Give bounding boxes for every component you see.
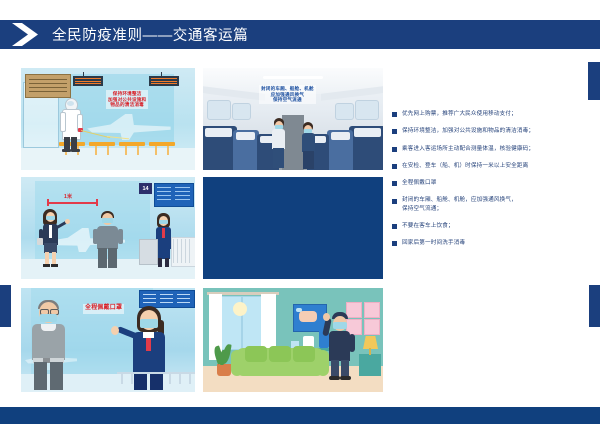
guideline-text: 乘客进入客运场所主动配合测量体温，核验健康码； bbox=[402, 145, 534, 153]
footer-bar bbox=[0, 407, 600, 424]
bullet-square-icon bbox=[392, 181, 397, 186]
distance-label: 1米 bbox=[62, 193, 74, 201]
header-bar: 全民防疫准则——交通客运篇 bbox=[0, 20, 600, 49]
bullet-square-icon bbox=[392, 241, 397, 246]
list-item: 封闭的车厢、船舱、机舱，应加强通风换气， 保持空气流通； bbox=[392, 196, 592, 212]
train-interior-illustration: 封闭的车厢、船舱、机舱 应加强通风换气 保持空气流通 bbox=[203, 68, 383, 170]
bullet-square-icon bbox=[392, 164, 397, 169]
accent-bar-right-bottom bbox=[589, 285, 600, 327]
panel-caption: 全程佩戴口罩 bbox=[83, 304, 124, 314]
bullet-square-icon bbox=[392, 199, 397, 204]
wear-mask-illustration: 全程佩戴口罩 bbox=[21, 288, 195, 392]
list-item: 在安检、登车（船、机）时保持一米以上安全距离 bbox=[392, 162, 592, 170]
list-item: 乘客进入客运场所主动配合测量体温，核验健康码； bbox=[392, 145, 592, 153]
home-handwashing-illustration bbox=[203, 288, 383, 392]
panel-caption: 保持环境整洁 加强对公共设施和 物品的清洁消毒 bbox=[106, 90, 148, 109]
accent-bar-right-top bbox=[588, 62, 600, 100]
list-item: 回家后第一时间洗手消毒 bbox=[392, 239, 592, 247]
bullet-square-icon bbox=[392, 224, 397, 229]
bullet-square-icon bbox=[392, 147, 397, 152]
one-meter-distance-illustration: 14 1米 bbox=[21, 177, 195, 279]
bullet-square-icon bbox=[392, 112, 397, 117]
guideline-text: 回家后第一时间洗手消毒 bbox=[402, 239, 465, 247]
list-item: 不要在客车上饮食； bbox=[392, 222, 592, 230]
list-item: 全程佩戴口罩 bbox=[392, 179, 592, 187]
bullet-square-icon bbox=[392, 129, 397, 134]
guideline-text: 在安检、登车（船、机）时保持一米以上安全距离 bbox=[402, 162, 528, 170]
airport-disinfection-illustration: 保持环境整洁 加强对公共设施和 物品的清洁消毒 bbox=[21, 68, 195, 170]
accent-bar-left-bottom bbox=[0, 285, 11, 327]
blue-filler-block bbox=[203, 177, 383, 279]
guideline-text: 优先网上购票，推荐广大民众使用移动支付； bbox=[402, 110, 517, 118]
list-item: 优先网上购票，推荐广大民众使用移动支付； bbox=[392, 110, 592, 118]
page-title: 全民防疫准则——交通客运篇 bbox=[52, 24, 248, 45]
guideline-text: 全程佩戴口罩 bbox=[402, 179, 436, 187]
gate-number-sign: 14 bbox=[139, 183, 152, 194]
guideline-text: 封闭的车厢、船舱、机舱，应加强通风换气， 保持空气流通； bbox=[402, 196, 517, 212]
guidelines-list: 优先网上购票，推荐广大民众使用移动支付； 保持环境整洁，加强对公共设施和物品的清… bbox=[392, 110, 592, 256]
panel-caption: 封闭的车厢、船舱、机舱 应加强通风换气 保持空气流通 bbox=[259, 85, 316, 104]
chevron-right-icon bbox=[8, 20, 44, 49]
guideline-text: 保持环境整洁，加强对公共设施和物品的清洁消毒； bbox=[402, 127, 534, 135]
list-item: 保持环境整洁，加强对公共设施和物品的清洁消毒； bbox=[392, 127, 592, 135]
guideline-text: 不要在客车上饮食； bbox=[402, 222, 454, 230]
